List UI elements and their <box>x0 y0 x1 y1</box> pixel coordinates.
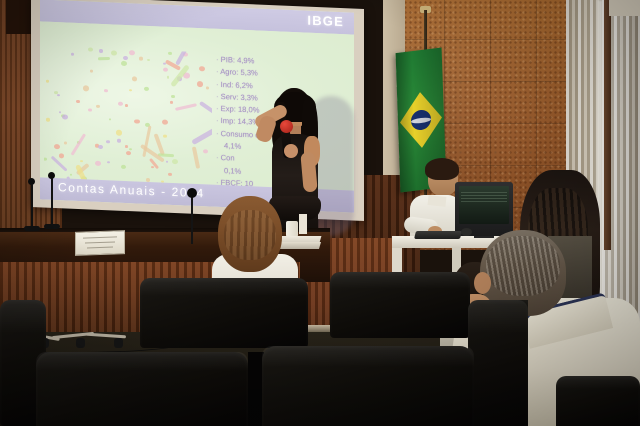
confetti-dot <box>128 46 131 48</box>
confetti-dot <box>107 161 110 163</box>
confetti-dot <box>98 145 103 150</box>
confetti-dot <box>197 81 203 87</box>
confetti-dot <box>139 56 143 60</box>
chair-caster <box>114 338 123 348</box>
audience-woman-hair <box>218 196 282 272</box>
microphone-head-icon <box>280 120 293 133</box>
confetti-dot <box>59 153 65 158</box>
operator-hair <box>425 158 459 180</box>
confetti-dot <box>62 114 68 119</box>
confetti-streamer <box>50 156 67 173</box>
confetti-streamer <box>70 133 86 155</box>
confetti-streamer <box>181 46 188 51</box>
confetti-dot <box>46 79 50 82</box>
seat-highlight <box>468 300 528 333</box>
confetti-dot <box>88 47 93 51</box>
microphone-stand <box>191 196 193 244</box>
nameplate-line <box>83 236 117 239</box>
presentation-room-photo: IBGE PIB: 4,9%Agro: 5,3%Ind: 6,2%Serv: 3… <box>0 0 640 426</box>
window-header-block <box>609 0 640 16</box>
confetti-dot <box>167 76 170 79</box>
confetti-dot <box>163 67 168 71</box>
confetti-dot <box>156 48 158 50</box>
presenter-hand <box>284 144 298 158</box>
confetti-dot <box>168 173 172 177</box>
confetti-dot <box>109 118 112 121</box>
nameplate-line <box>85 241 115 243</box>
confetti-dot <box>163 134 167 138</box>
confetti-dot <box>111 50 117 55</box>
confetti-dot <box>116 130 123 136</box>
confetti-dot <box>144 86 149 90</box>
confetti-dot <box>59 111 62 114</box>
confetti-dot <box>132 77 137 82</box>
confetti-dot <box>76 100 80 104</box>
operator-collar <box>428 195 447 207</box>
audience-man-ear <box>474 272 491 294</box>
confetti-dot <box>80 160 83 163</box>
microphone-base <box>44 224 60 229</box>
confetti-streamer <box>199 101 212 120</box>
confetti-dot <box>96 105 100 108</box>
confetti-dot <box>147 59 150 61</box>
confetti-dot <box>104 89 108 92</box>
confetti-dot <box>134 119 140 124</box>
confetti-dot <box>95 160 101 166</box>
confetti-dot <box>121 60 127 66</box>
gooseneck-microphone <box>28 172 68 244</box>
confetti-dot <box>57 94 60 97</box>
seat-highlight <box>556 376 640 389</box>
confetti-streamer <box>192 147 200 170</box>
auditorium-seat <box>330 272 470 338</box>
confetti-streamer <box>191 124 212 144</box>
confetti-dot <box>101 46 103 48</box>
auditorium-seat <box>468 300 528 426</box>
confetti-dot <box>70 174 73 176</box>
confetti-dot <box>106 140 110 143</box>
confetti-dot <box>44 158 47 161</box>
auditorium-seat <box>262 346 474 426</box>
nameplate-line <box>87 247 113 249</box>
confetti-dot <box>172 159 178 164</box>
confetti-dot <box>54 144 61 150</box>
confetti-dot <box>125 145 128 148</box>
confetti-dot <box>46 118 50 122</box>
monitor-scanlines <box>461 190 507 202</box>
seat-highlight <box>36 352 248 371</box>
confetti-dot <box>123 56 128 60</box>
confetti-dot <box>126 151 131 156</box>
confetti-dot <box>121 165 126 170</box>
confetti-streamer <box>98 57 111 61</box>
microphone-stem <box>51 178 53 226</box>
confetti-dot <box>83 86 89 92</box>
confetti-dot <box>88 108 92 112</box>
slide-footer-title: Contas Anuais - 2004 <box>58 180 205 200</box>
seat-highlight <box>262 346 474 367</box>
auditorium-seat <box>36 352 248 426</box>
confetti-dot <box>167 46 171 49</box>
confetti-dot <box>166 161 169 163</box>
confetti-dot <box>151 166 154 168</box>
confetti-dot <box>117 138 122 142</box>
confetti-dot <box>203 149 208 154</box>
chair-caster <box>76 338 85 348</box>
confetti-dot <box>90 69 93 72</box>
confetti-dot <box>199 66 205 71</box>
seat-highlight <box>330 272 470 289</box>
confetti-dot <box>206 86 210 89</box>
speaker-nameplate <box>75 230 125 256</box>
confetti-dot <box>125 104 129 107</box>
ibge-logo: IBGE <box>307 13 344 30</box>
confetti-dot <box>118 101 123 106</box>
auditorium-seat <box>140 278 308 348</box>
confetti-streamer <box>175 103 197 111</box>
confetti-dot <box>162 119 168 125</box>
auditorium-seat <box>556 376 640 426</box>
confetti-dot <box>64 142 67 145</box>
confetti-dot <box>71 53 74 56</box>
seat-highlight <box>140 278 308 296</box>
confetti-dot <box>171 95 175 98</box>
confetti-dot <box>170 101 173 104</box>
confetti-dot <box>99 49 103 53</box>
confetti-dot <box>129 50 135 55</box>
confetti-dot <box>129 148 132 151</box>
confetti-dot <box>129 89 132 92</box>
confetti-dot <box>168 52 172 55</box>
